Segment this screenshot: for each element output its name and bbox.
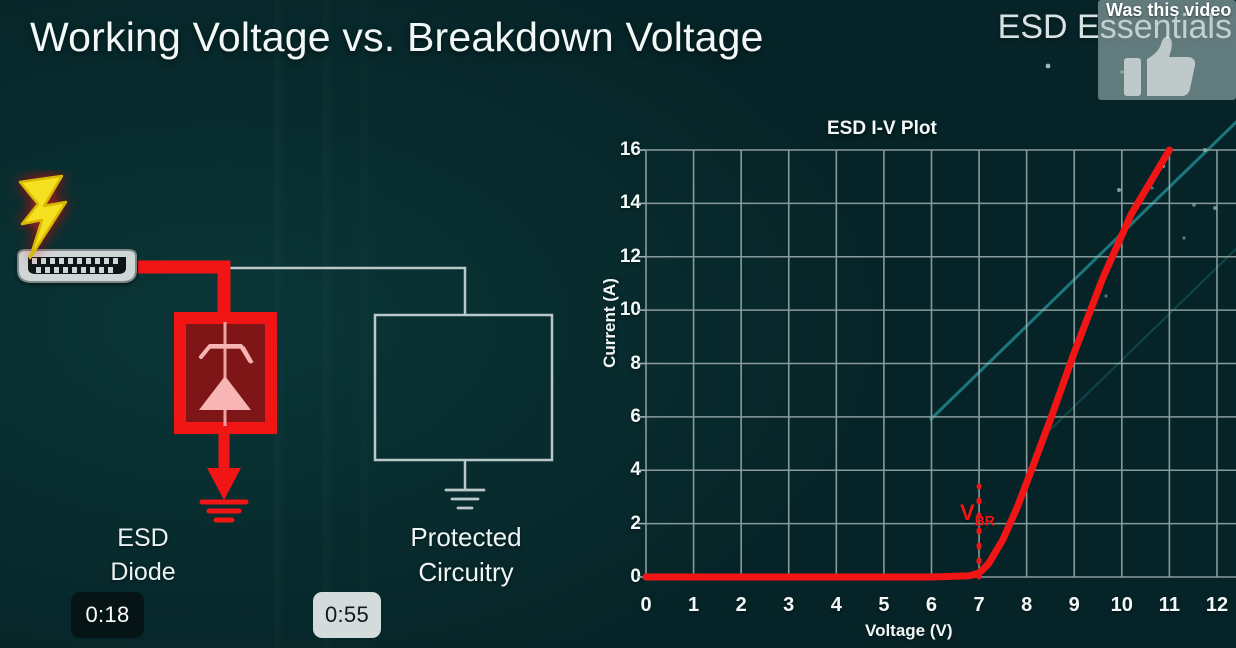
circuit-diagram: ESD Diode Protected Circuitry xyxy=(0,170,600,550)
current-arrow-icon xyxy=(207,468,241,500)
esd-ground-icon xyxy=(202,502,246,520)
vbr-sub: BR xyxy=(975,512,995,528)
page-title: Working Voltage vs. Breakdown Voltage xyxy=(30,14,764,61)
lightning-bolt-icon xyxy=(20,176,66,258)
esd-iv-chart: ESD I-V Plot Current (A) Voltage (V) 024… xyxy=(575,108,1236,648)
timestamp-chip-1-label: 0:55 xyxy=(325,602,369,628)
survey-overlay[interactable]: Was this video xyxy=(1098,0,1236,100)
hdmi-connector xyxy=(18,250,136,282)
screen: Working Voltage vs. Breakdown Voltage ES… xyxy=(0,0,1236,648)
esd-diode-label-line1: ESD xyxy=(88,522,198,556)
protected-label-line2: Circuitry xyxy=(378,555,554,590)
protected-ground-icon xyxy=(446,490,484,508)
vbr-main: V xyxy=(960,500,975,525)
protected-circuitry-box xyxy=(375,315,552,460)
esd-diode-label-line2: Diode xyxy=(88,556,198,590)
breakdown-voltage-label: VBR xyxy=(960,500,995,528)
chart-tick-marks xyxy=(638,150,646,577)
esd-diode-symbol xyxy=(180,318,271,428)
esd-current-path xyxy=(138,267,224,318)
chart-gridlines xyxy=(646,150,1236,577)
esd-diode-label: ESD Diode xyxy=(88,522,198,590)
protected-circuitry-label: Protected Circuitry xyxy=(378,520,554,589)
signal-wire xyxy=(143,268,465,315)
chart-plot-area xyxy=(575,108,1236,648)
survey-question-text: Was this video xyxy=(1106,0,1231,21)
timestamp-chip-1[interactable]: 0:55 xyxy=(313,592,381,638)
protected-label-line1: Protected xyxy=(378,520,554,555)
timestamp-chip-0[interactable]: 0:18 xyxy=(71,592,144,638)
timestamp-chip-0-label: 0:18 xyxy=(85,602,129,628)
thumbs-up-icon[interactable] xyxy=(1124,36,1196,96)
